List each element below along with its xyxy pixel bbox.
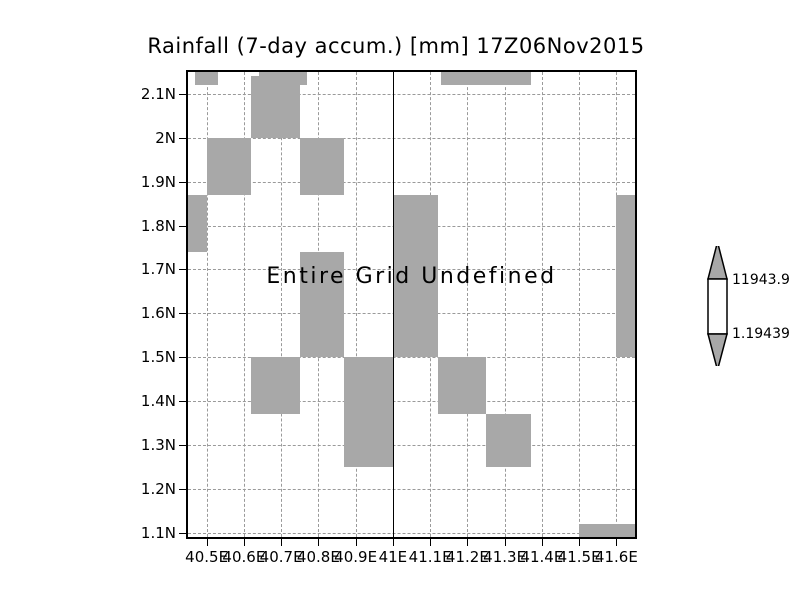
gridline-vertical: [467, 72, 469, 537]
y-axis-tick: [179, 489, 186, 490]
gridline-horizontal: [188, 138, 635, 140]
data-cell: [438, 357, 486, 414]
x-axis-label: 40.9E: [334, 548, 377, 566]
y-axis-label: 2N: [155, 129, 176, 147]
x-axis-label: 41.6E: [595, 548, 638, 566]
y-axis-tick: [179, 269, 186, 270]
y-axis-label: 1.4N: [141, 392, 176, 410]
plot-area[interactable]: Entire Grid Undefined: [186, 70, 637, 539]
y-axis-tick: [179, 313, 186, 314]
data-cell: [616, 195, 635, 357]
gridline-horizontal: [188, 445, 635, 447]
x-axis-tick: [542, 539, 543, 546]
plot-canvas: Rainfall (7-day accum.) [mm] 17Z06Nov201…: [0, 0, 792, 612]
y-axis-label: 1.3N: [141, 436, 176, 454]
gridline-vertical: [281, 72, 283, 537]
y-axis-label: 1.8N: [141, 217, 176, 235]
x-axis-tick: [430, 539, 431, 546]
x-axis-tick: [207, 539, 208, 546]
gridline-vertical: [356, 72, 358, 537]
y-axis-label: 1.5N: [141, 348, 176, 366]
y-axis-tick: [179, 94, 186, 95]
colorbar-shape: [700, 246, 792, 366]
colorbar-low-label: 1.19439: [732, 326, 790, 342]
gridline-vertical: [542, 72, 544, 537]
y-axis-label: 1.1N: [141, 524, 176, 542]
data-cell: [300, 138, 345, 195]
y-axis-tick: [179, 138, 186, 139]
chart-title: Rainfall (7-day accum.) [mm] 17Z06Nov201…: [0, 34, 792, 58]
x-axis-tick: [467, 539, 468, 546]
data-cell: [486, 414, 531, 467]
y-axis-tick: [179, 445, 186, 446]
x-axis-tick: [318, 539, 319, 546]
y-axis-tick: [179, 533, 186, 534]
x-axis-tick: [281, 539, 282, 546]
x-axis-tick: [393, 539, 394, 546]
gridline-horizontal: [188, 182, 635, 184]
data-cell: [188, 195, 207, 252]
data-cell: [300, 252, 345, 357]
meridian-line: [393, 72, 394, 537]
x-axis-tick: [579, 539, 580, 546]
y-axis-label: 1.2N: [141, 480, 176, 498]
gridline-vertical: [505, 72, 507, 537]
x-axis: 40.5E40.6E40.7E40.8E40.9E41E41.1E41.2E41…: [186, 539, 637, 579]
y-axis-tick: [179, 182, 186, 183]
y-axis-label: 1.7N: [141, 260, 176, 278]
x-axis-tick: [505, 539, 506, 546]
gridline-horizontal: [188, 489, 635, 491]
gridline-vertical: [579, 72, 581, 537]
y-axis-tick: [179, 226, 186, 227]
y-axis-tick: [179, 401, 186, 402]
colorbar-high-label: 11943.9: [732, 272, 790, 288]
y-axis-label: 1.6N: [141, 304, 176, 322]
y-axis-label: 1.9N: [141, 173, 176, 191]
data-cell: [251, 76, 299, 137]
data-cell: [393, 252, 438, 357]
x-axis-label: 41E: [379, 548, 408, 566]
x-axis-tick: [244, 539, 245, 546]
colorbar[interactable]: 11943.9 1.19439: [700, 246, 792, 366]
data-cell: [207, 138, 252, 195]
data-cell: [579, 524, 635, 537]
gridline-horizontal: [188, 533, 635, 535]
data-cell: [441, 72, 530, 85]
data-cell: [195, 72, 217, 85]
y-axis: 2.1N2N1.9N1.8N1.7N1.6N1.5N1.4N1.3N1.2N1.…: [100, 70, 186, 539]
x-axis-tick: [356, 539, 357, 546]
data-cell: [393, 195, 438, 252]
x-axis-tick: [616, 539, 617, 546]
y-axis-label: 2.1N: [141, 85, 176, 103]
data-cell: [344, 357, 392, 467]
y-axis-tick: [179, 357, 186, 358]
data-cell: [251, 357, 299, 414]
